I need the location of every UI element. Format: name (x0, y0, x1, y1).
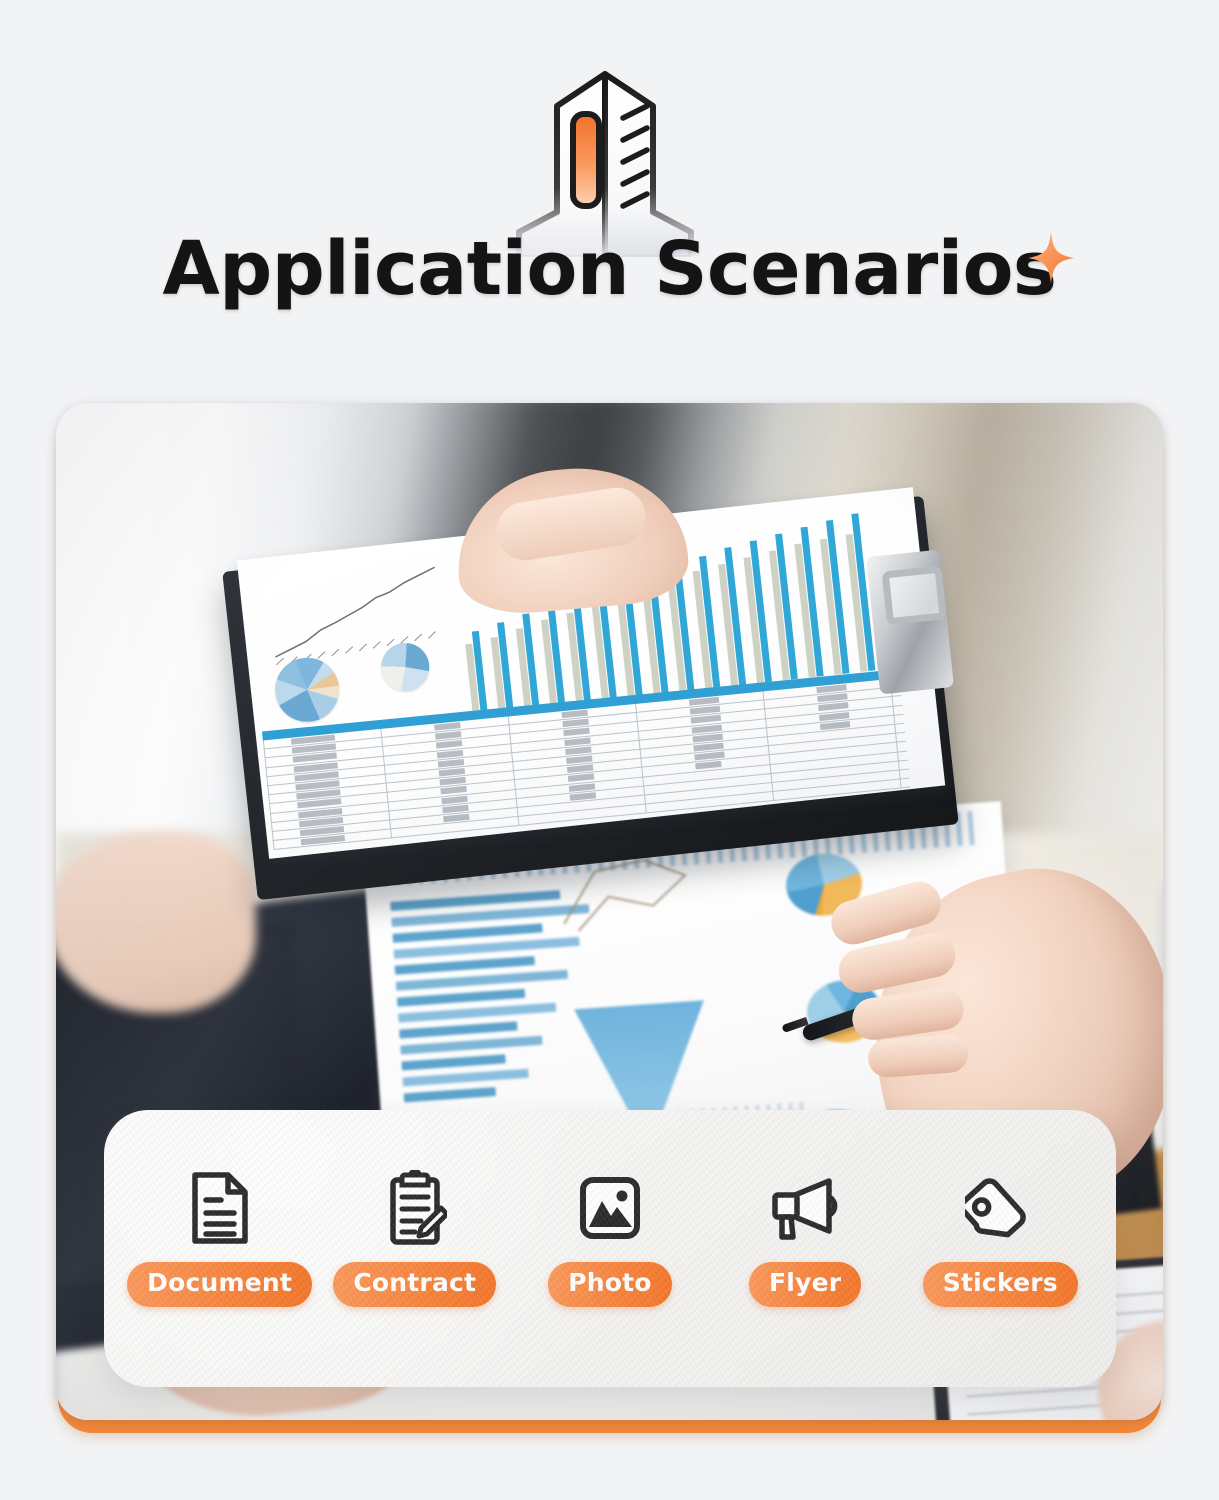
sparkle-star-icon (1028, 232, 1074, 284)
application-categories-card: Document Contract (104, 1110, 1116, 1387)
category-label-flyer: Flyer (749, 1262, 861, 1307)
category-label-document: Document (127, 1262, 312, 1307)
page-header: Application Scenarios (0, 0, 1219, 396)
price-tag-icon (965, 1162, 1035, 1254)
category-item-stickers[interactable]: Stickers (908, 1162, 1093, 1307)
category-label-photo: Photo (548, 1262, 671, 1307)
category-label-stickers: Stickers (923, 1262, 1078, 1307)
clipboard-pencil-icon (383, 1162, 447, 1254)
category-item-photo[interactable]: Photo (517, 1162, 702, 1307)
clipboard-clip (866, 550, 954, 695)
document-icon (190, 1162, 250, 1254)
category-item-flyer[interactable]: Flyer (713, 1162, 898, 1307)
funnel-chart (574, 1000, 711, 1119)
person-arm (56, 833, 256, 1013)
megaphone-icon (767, 1162, 843, 1254)
image-icon (577, 1162, 643, 1254)
category-item-contract[interactable]: Contract (322, 1162, 507, 1307)
category-label-contract: Contract (333, 1262, 496, 1307)
category-list: Document Contract (104, 1162, 1116, 1307)
category-item-document[interactable]: Document (127, 1162, 312, 1307)
finger (867, 1034, 969, 1079)
page-title: Application Scenarios (163, 232, 1057, 306)
